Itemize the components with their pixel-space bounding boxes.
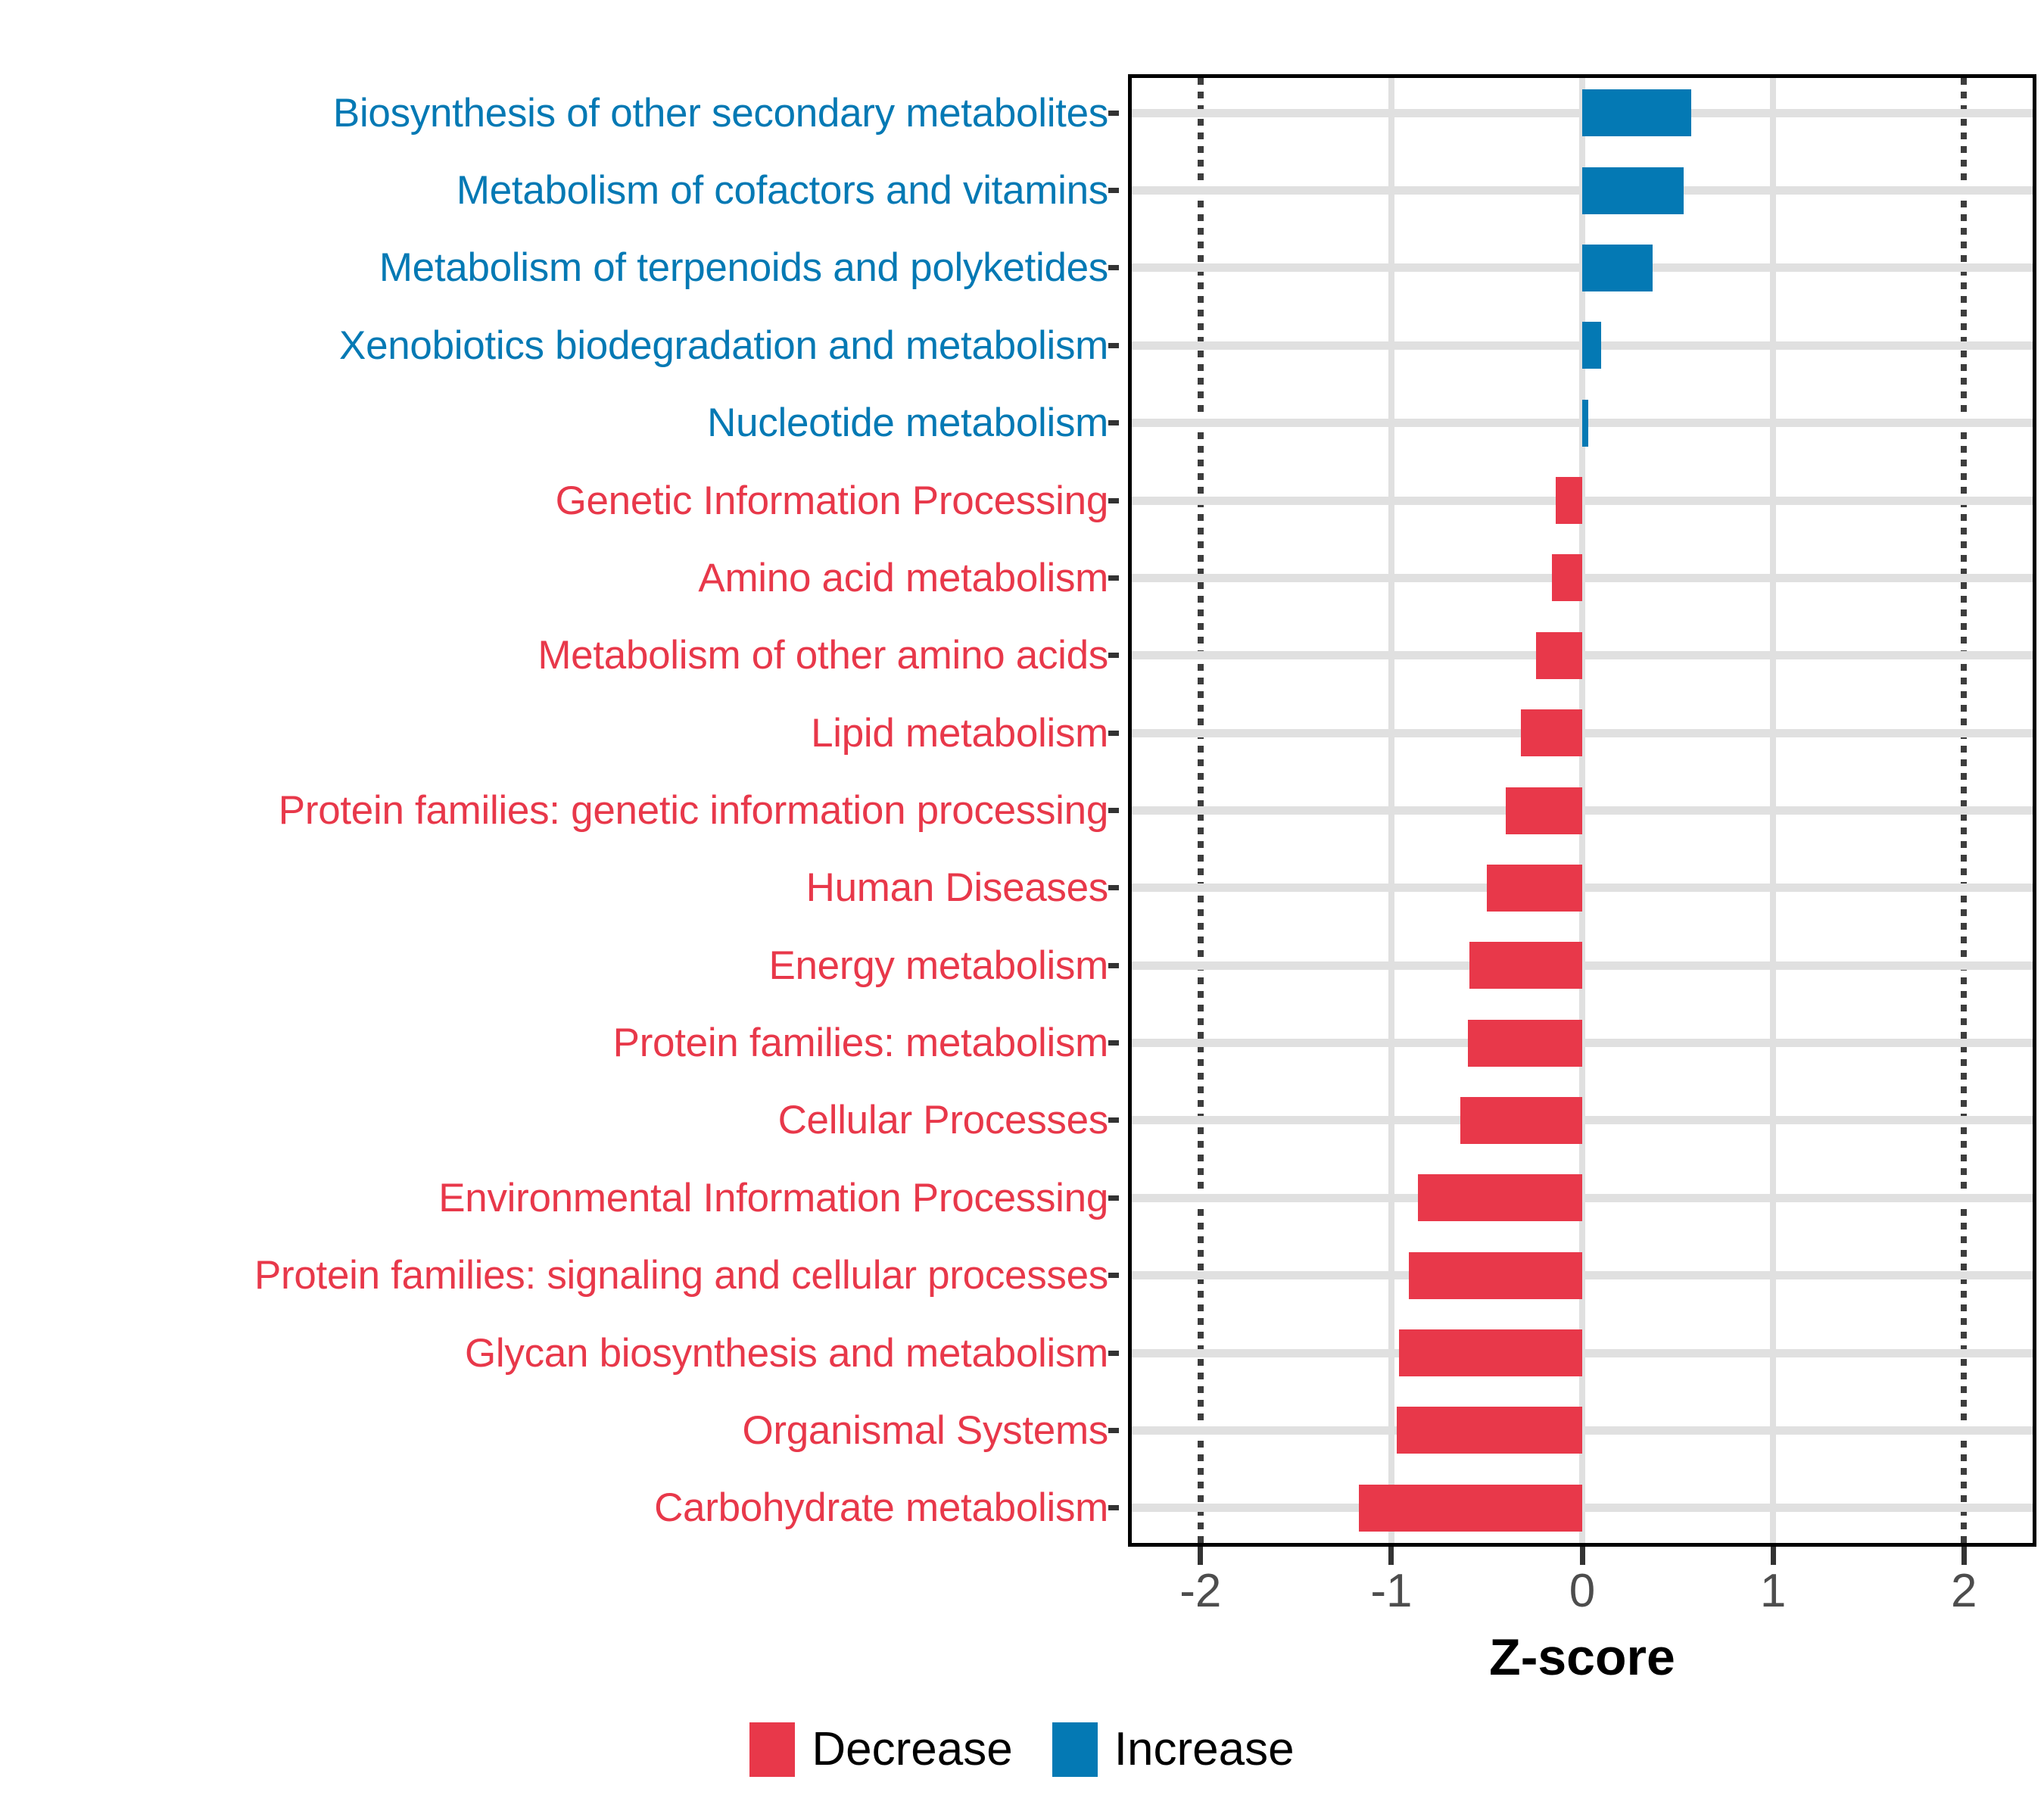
horizontal-gridline (1132, 1426, 2033, 1435)
horizontal-gridline (1132, 497, 2033, 505)
bar (1418, 1174, 1582, 1221)
x-axis-tick (1388, 1547, 1394, 1565)
horizontal-gridline (1132, 1194, 2033, 1202)
bar (1536, 632, 1582, 679)
y-axis-tick (1108, 1040, 1119, 1046)
y-axis-tick (1108, 343, 1119, 348)
horizontal-gridline (1132, 806, 2033, 815)
horizontal-gridline (1132, 729, 2033, 737)
bar (1469, 942, 1582, 989)
y-axis-label: Cellular Processes (778, 1100, 1119, 1140)
x-axis-tick (1580, 1547, 1585, 1565)
y-axis-label: Protein families: metabolism (613, 1023, 1119, 1063)
y-axis-label: Biosynthesis of other secondary metaboli… (333, 93, 1119, 133)
horizontal-gridline (1132, 1271, 2033, 1279)
y-axis-tick (1108, 885, 1119, 890)
y-axis-label-row: Protein families: genetic information pr… (0, 771, 1119, 849)
y-axis-tick (1108, 188, 1119, 193)
y-axis-label-row: Nucleotide metabolism (0, 384, 1119, 461)
x-axis-tick (1771, 1547, 1776, 1565)
legend-label: Decrease (812, 1726, 1012, 1773)
chart-root: Biosynthesis of other secondary metaboli… (0, 0, 2044, 1817)
bar (1552, 554, 1582, 601)
horizontal-gridline (1132, 1349, 2033, 1357)
y-axis-tick (1108, 1351, 1119, 1356)
y-axis-label: Nucleotide metabolism (707, 403, 1119, 443)
y-axis-label-row: Carbohydrate metabolism (0, 1469, 1119, 1547)
y-axis-tick (1108, 731, 1119, 736)
y-axis-label: Carbohydrate metabolism (654, 1488, 1119, 1528)
y-axis-label: Xenobiotics biodegradation and metabolis… (339, 326, 1119, 366)
y-axis-label-row: Metabolism of terpenoids and polyketides (0, 229, 1119, 307)
y-axis-label-row: Amino acid metabolism (0, 539, 1119, 616)
bar (1506, 787, 1582, 834)
bar (1409, 1252, 1582, 1299)
y-axis-tick (1108, 498, 1119, 503)
bar (1399, 1329, 1582, 1376)
x-axis-title: Z-score (1128, 1632, 2036, 1683)
y-axis-label: Metabolism of cofactors and vitamins (456, 170, 1119, 210)
y-axis-label-row: Xenobiotics biodegradation and metabolis… (0, 307, 1119, 384)
y-axis-label-row: Human Diseases (0, 849, 1119, 927)
y-axis-tick (1108, 1428, 1119, 1433)
y-axis-label: Metabolism of other amino acids (537, 635, 1119, 675)
legend-label: Increase (1114, 1726, 1295, 1773)
horizontal-gridline (1132, 651, 2033, 659)
y-axis-tick (1108, 111, 1119, 116)
y-axis-label-row: Environmental Information Processing (0, 1159, 1119, 1236)
horizontal-gridline (1132, 1504, 2033, 1512)
y-axis-label-row: Lipid metabolism (0, 694, 1119, 771)
y-axis-tick (1108, 575, 1119, 581)
y-axis-tick (1108, 963, 1119, 968)
y-axis-tick (1108, 808, 1119, 813)
legend-item[interactable]: Decrease (749, 1722, 1012, 1777)
horizontal-gridline (1132, 574, 2033, 582)
y-axis-label-row: Organismal Systems (0, 1392, 1119, 1469)
legend-swatch (1052, 1722, 1098, 1777)
y-axis-label: Lipid metabolism (811, 713, 1119, 753)
y-axis-label: Energy metabolism (768, 946, 1119, 986)
bar (1582, 322, 1601, 369)
horizontal-gridline (1132, 961, 2033, 970)
y-axis-label-row: Metabolism of cofactors and vitamins (0, 151, 1119, 229)
plot-panel (1128, 74, 2036, 1547)
bar (1397, 1407, 1582, 1454)
y-axis-tick (1108, 420, 1119, 425)
y-axis-label-row: Biosynthesis of other secondary metaboli… (0, 74, 1119, 151)
legend-item[interactable]: Increase (1052, 1722, 1295, 1777)
x-axis-tick-label: -2 (1179, 1568, 1221, 1615)
legend-swatch (749, 1722, 795, 1777)
x-axis-tick (1198, 1547, 1203, 1565)
bar (1468, 1020, 1582, 1067)
bar (1556, 477, 1582, 524)
y-axis-tick (1108, 1117, 1119, 1123)
y-axis-label: Amino acid metabolism (698, 558, 1119, 598)
y-axis-label-row: Metabolism of other amino acids (0, 617, 1119, 694)
x-axis-tick (1961, 1547, 1967, 1565)
y-axis-tick (1108, 265, 1119, 270)
horizontal-gridline (1132, 1039, 2033, 1047)
y-axis-label: Metabolism of terpenoids and polyketides (379, 248, 1119, 288)
y-axis-tick (1108, 1195, 1119, 1201)
bar (1359, 1485, 1582, 1532)
y-axis-label-row: Cellular Processes (0, 1082, 1119, 1159)
y-axis-tick (1108, 653, 1119, 658)
y-axis-label-row: Glycan biosynthesis and metabolism (0, 1314, 1119, 1392)
y-axis-label: Protein families: genetic information pr… (279, 790, 1119, 831)
y-axis-label: Organismal Systems (742, 1410, 1119, 1451)
x-axis-tick-label: 0 (1569, 1568, 1595, 1615)
y-axis-label: Protein families: signaling and cellular… (254, 1255, 1119, 1295)
horizontal-gridline (1132, 1116, 2033, 1124)
x-axis-tick-label: -1 (1370, 1568, 1412, 1615)
y-axis-tick (1108, 1505, 1119, 1510)
bar (1582, 245, 1653, 291)
legend: DecreaseIncrease (0, 1722, 2044, 1777)
y-axis-label-row: Protein families: signaling and cellular… (0, 1237, 1119, 1314)
y-axis-label-row: Genetic Information Processing (0, 462, 1119, 539)
y-axis-label-row: Energy metabolism (0, 927, 1119, 1004)
bar (1582, 167, 1684, 214)
x-axis-tick-label: 1 (1760, 1568, 1786, 1615)
y-axis-tick (1108, 1273, 1119, 1278)
y-axis-label-row: Protein families: metabolism (0, 1004, 1119, 1081)
horizontal-gridline (1132, 884, 2033, 892)
y-axis-label: Genetic Information Processing (556, 481, 1119, 521)
y-axis-labels: Biosynthesis of other secondary metaboli… (0, 74, 1119, 1547)
x-axis-tick-label: 2 (1951, 1568, 1977, 1615)
y-axis-label: Human Diseases (806, 868, 1119, 908)
bar (1521, 709, 1582, 756)
bar (1460, 1097, 1582, 1144)
y-axis-label: Environmental Information Processing (438, 1178, 1119, 1218)
y-axis-label: Glycan biosynthesis and metabolism (465, 1333, 1119, 1373)
bar (1582, 89, 1691, 136)
bar (1487, 865, 1582, 912)
bar (1582, 400, 1588, 447)
